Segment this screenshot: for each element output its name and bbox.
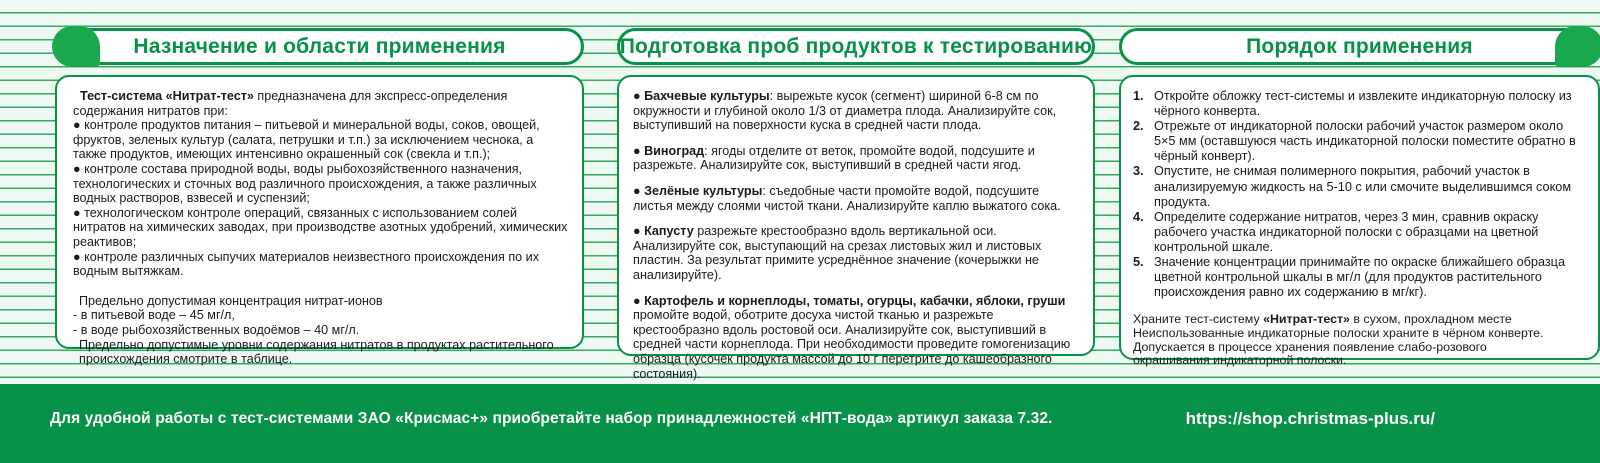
item-sep: : [770,89,777,103]
list-item: ● Капусту разрежьте крестообразно вдоль … [633,224,1079,282]
bullet-text: контроле состава природной воды, воды ры… [73,162,537,205]
storage-note-line: окрашивания индикаторной полоски. [1133,354,1584,368]
note-rest: в сухом, прохладном месте [1350,312,1512,326]
list-item: 4.Определите содержание нитратов, через … [1133,210,1584,255]
item-lead: Виноград [644,144,704,158]
column-body-procedure: 1.Откройте обложку тест-системы и извлек… [1119,75,1600,360]
item-lead: Зелёные культуры [644,184,762,198]
leaf-decoration-icon [1555,26,1600,67]
columns-container: Назначение и области применения Тест-сис… [0,0,1600,388]
item-text: промойте водой, оботрите досуха чистой т… [633,308,1070,380]
list-item: ● контроле состава природной воды, воды … [73,162,568,206]
limits-footer: Предельно допустимые уровни содержания н… [73,338,568,367]
column-purpose: Назначение и области применения Тест-сис… [55,0,584,388]
column-header-purpose: Назначение и области применения [55,28,584,65]
step-number: 4. [1133,210,1144,225]
item-lead: Капусту [644,224,694,238]
storage-note-first-line: Храните тест-систему «Нитрат-тест» в сух… [1133,313,1584,327]
list-item: ● контроле различных сыпучих материалов … [73,250,568,279]
item-lead: Картофель и корнеплоды, томаты, огурцы, … [644,294,1065,308]
step-text: Откройте обложку тест-системы и извлекит… [1154,89,1572,118]
column-header-procedure: Порядок применения [1119,28,1600,65]
step-number: 3. [1133,164,1144,179]
step-number: 1. [1133,89,1144,104]
step-text: Значение концентрации принимайте по окра… [1154,255,1565,299]
bullet-text: технологическом контроле операций, связа… [73,206,567,249]
list-item: ● Виноград: ягоды отделите от веток, про… [633,144,1079,173]
storage-note: Храните тест-систему «Нитрат-тест» в сух… [1133,313,1584,367]
column-title: Назначение и области применения [133,35,505,59]
bullet-text: контроле продуктов питания – питьевой и … [73,118,540,161]
column-title: Порядок применения [1246,35,1473,59]
column-procedure: Порядок применения 1.Откройте обложку те… [1119,0,1600,388]
list-item: ● Картофель и корнеплоды, томаты, огурцы… [633,294,1079,382]
note-product-name: «Нитрат-тест» [1263,312,1350,326]
procedure-steps: 1.Откройте обложку тест-системы и извлек… [1133,89,1584,300]
column-body-purpose: Тест-система «Нитрат-тест» предназначена… [55,75,584,349]
list-item: 3.Опустите, не снимая полимерного покрыт… [1133,164,1584,209]
step-text: Определите содержание нитратов, через 3 … [1154,210,1539,254]
list-item: ● технологическом контроле операций, свя… [73,206,568,250]
intro-paragraph: Тест-система «Нитрат-тест» предназначена… [73,89,568,118]
storage-note-line: Неиспользованные индикаторные полоски хр… [1133,327,1584,341]
list-item: 2.Отрежьте от индикаторной полоски рабоч… [1133,119,1584,164]
column-header-sample-prep: Подготовка проб продуктов к тестированию [617,28,1095,65]
list-item: ● Зелёные культуры: съедобные части пром… [633,184,1079,213]
step-number: 5. [1133,255,1144,270]
list-item: 1.Откройте обложку тест-системы и извлек… [1133,89,1584,119]
item-lead: Бахчевые культуры [644,89,770,103]
product-name: Тест-система «Нитрат-тест» [80,89,254,103]
shop-url-link[interactable]: https://shop.christmas-plus.ru/ [1186,409,1435,429]
list-item: ● контроле продуктов питания – питьевой … [73,118,568,162]
column-sample-prep: Подготовка проб продуктов к тестированию… [617,0,1095,388]
bottom-banner: Для удобной работы с тест-системами ЗАО … [0,384,1600,463]
limits-title: Предельно допустимая концентрация нитрат… [73,294,568,309]
step-number: 2. [1133,119,1144,134]
column-title: Подготовка проб продуктов к тестированию [620,35,1092,59]
column-body-sample-prep: ● Бахчевые культуры: вырежьте кусок (сег… [617,75,1095,356]
limit-line: - в питьевой воде – 45 мг/л, [73,308,568,323]
step-text: Опустите, не снимая полимерного покрытия… [1154,164,1571,208]
list-item: ● Бахчевые культуры: вырежьте кусок (сег… [633,89,1079,133]
promo-text: Для удобной работы с тест-системами ЗАО … [50,410,1052,428]
leaf-decoration-icon [52,26,100,67]
step-text: Отрежьте от индикаторной полоски рабочий… [1154,119,1576,163]
storage-note-line: Допускается в процессе хранения появлени… [1133,341,1584,355]
leaflet-page: Назначение и области применения Тест-сис… [0,0,1600,463]
bullet-text: контроле различных сыпучих материалов не… [73,250,539,279]
note-lead: Храните тест-систему [1133,312,1263,326]
limit-line: - в воде рыбохозяйственных водоёмов – 40… [73,323,568,338]
list-item: 5.Значение концентрации принимайте по ок… [1133,255,1584,300]
